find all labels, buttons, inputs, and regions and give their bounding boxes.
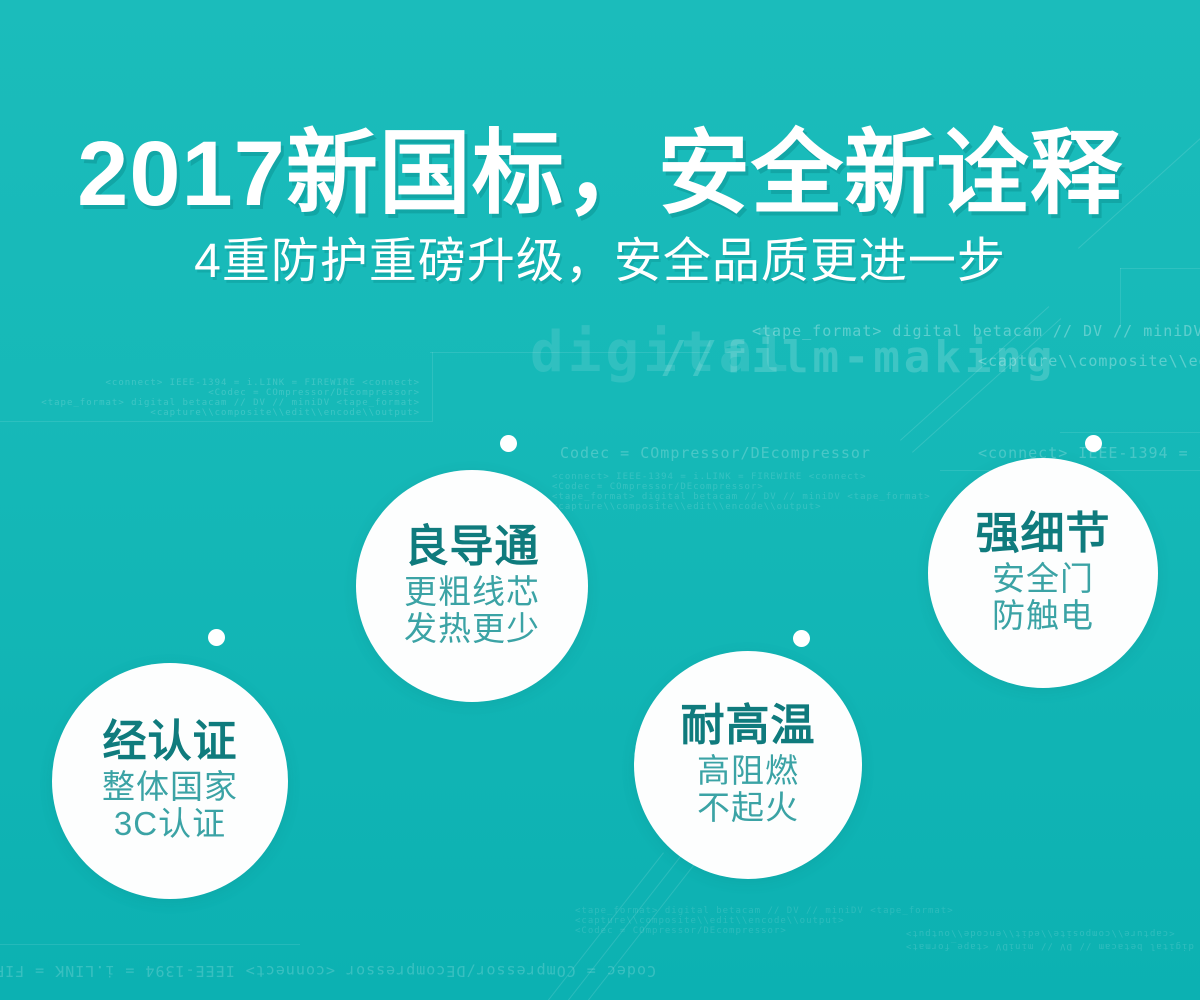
feature-sub-1-line-2: 3C认证	[114, 806, 226, 843]
feature-title-4: 强细节	[976, 511, 1111, 557]
bg-text-mirror-block: <capture\\composite\\edit\\encode\\outpu…	[905, 928, 1175, 938]
bg-text-lower-line-2: <capture\\composite\\edit\\encode\\outpu…	[575, 916, 915, 926]
bg-diagonal-5	[560, 852, 684, 1000]
feature-sub-3-line-2: 不起火	[697, 790, 799, 827]
bubble-dot-2	[500, 435, 517, 452]
bg-line-h-1	[0, 421, 432, 422]
feature-bubble-conductivity[interactable]: 良导通 更粗线芯 发热更少	[356, 470, 588, 702]
feature-bubble-details[interactable]: 强细节 安全门 防触电	[928, 458, 1158, 688]
bg-text-lower-line-1: <tape_format> digital betacam // DV // m…	[575, 906, 915, 916]
bg-text-codec: Codec = COmpressor/DEcompressor	[560, 444, 871, 462]
bg-text-block-center: <connect> IEEE-1394 = i.LINK = FIREWIRE …	[552, 472, 852, 512]
bg-text-lower-line-3: <Codec = COmpressor/DEcompressor>	[575, 926, 915, 936]
bubble-dot-1	[208, 629, 225, 646]
feature-title-1: 经认证	[103, 719, 238, 765]
page-title: 2017新国标，安全新诠释	[0, 128, 1200, 222]
bg-text-center-line-1: <connect> IEEE-1394 = i.LINK = FIREWIRE …	[552, 472, 852, 482]
bg-text-block-lower: <tape_format> digital betacam // DV // m…	[575, 906, 915, 936]
bg-text-center-line-2: <Codec = COmpressor/DEcompressor>	[552, 482, 852, 492]
feature-sub-4-line-2: 防触电	[992, 598, 1094, 635]
bubble-dot-3	[793, 630, 810, 647]
feature-sub-2-line-1: 更粗线芯	[404, 574, 540, 611]
bg-text-center-line-4: <capture\\composite\\edit\\encode\\outpu…	[552, 502, 852, 512]
bg-line-h-5	[0, 944, 300, 945]
bg-text-mirror-block-2: <tape_format> digital betacam // DV // m…	[905, 941, 1200, 951]
bg-diagonal-6	[580, 852, 704, 1000]
feature-title-2: 良导通	[405, 524, 540, 570]
feature-sub-1-line-1: 整体国家	[102, 769, 238, 806]
feature-sub-4-line-1: 安全门	[992, 561, 1094, 598]
bg-text-mirror-codec: Codec = COmpressor/DEcompressor	[345, 962, 656, 980]
feature-bubble-heat-resistance[interactable]: 耐高温 高阻燃 不起火	[634, 651, 862, 879]
bg-text-mirror-connect: <connect> IEEE-1394 = i.LINK = FIR	[0, 962, 335, 980]
bg-diagonal-2	[912, 318, 1061, 453]
feature-sub-3-line-1: 高阻燃	[697, 753, 799, 790]
bg-diagonal-1	[900, 306, 1049, 441]
headline-block: 2017新国标，安全新诠释 4重防护重磅升级，安全品质更进一步	[0, 128, 1200, 289]
bg-text-block-line-4: <capture\\composite\\edit\\encode\\outpu…	[40, 408, 420, 418]
page-subtitle: 4重防护重磅升级，安全品质更进一步	[0, 234, 1200, 289]
feature-sub-2-line-2: 发热更少	[404, 611, 540, 648]
feature-title-3: 耐高温	[681, 703, 816, 749]
ghost-word-digital: digital	[530, 320, 794, 385]
bg-text-block-line-3: <tape_format> digital betacam // DV // m…	[40, 398, 420, 408]
bg-text-capture: <capture\\composite\\edit\\encode\\outpu…	[978, 352, 1200, 370]
bg-text-center-line-3: <tape_format> digital betacam // DV // m…	[552, 492, 852, 502]
bg-line-h-2	[430, 352, 710, 353]
bg-text-block-left: <connect> IEEE-1394 = i.LINK = FIREWIRE …	[40, 378, 420, 418]
bg-line-h-4	[1060, 432, 1200, 433]
promo-poster: digital //film-making <tape_format> digi…	[0, 0, 1200, 1000]
bubble-dot-4	[1085, 435, 1102, 452]
bg-text-block-line-2: <Codec = COmpressor/DEcompressor>	[40, 388, 420, 398]
bg-text-block-line-1: <connect> IEEE-1394 = i.LINK = FIREWIRE …	[40, 378, 420, 388]
ghost-word-film-making: //film-making	[660, 332, 1056, 383]
bg-line-v-1	[432, 352, 433, 422]
bg-text-tape-format: <tape_format> digital betacam // DV // m…	[752, 322, 1200, 340]
bg-diagonal-4	[540, 852, 664, 1000]
feature-bubble-certification[interactable]: 经认证 整体国家 3C认证	[52, 663, 288, 899]
